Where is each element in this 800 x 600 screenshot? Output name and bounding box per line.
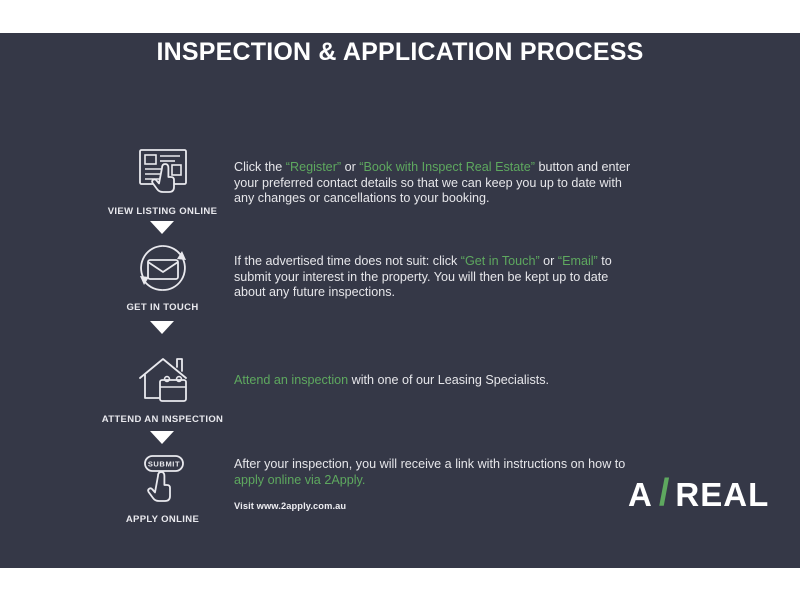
step-3-text-0: Attend an inspection xyxy=(234,373,348,387)
step-4-caption: APPLY ONLINE xyxy=(90,514,235,525)
step-1-text-0: Click the xyxy=(234,160,286,174)
step-4-body: After your inspection, you will receive … xyxy=(234,457,634,515)
step-4-footnote: Visit www.2apply.com.au xyxy=(234,499,634,515)
step-4-text-1: apply online via 2Apply. xyxy=(234,473,365,487)
logo-letter-a: A xyxy=(628,478,653,511)
step-1-text-2: or xyxy=(341,160,359,174)
step-1-text-1: “Register” xyxy=(286,160,341,174)
step-2-text-2: or xyxy=(540,254,558,268)
step-1-icon-column: VIEW LISTING ONLINE xyxy=(90,144,235,217)
svg-text:SUBMIT: SUBMIT xyxy=(147,460,179,469)
brand-logo: A / REAL xyxy=(628,474,769,514)
step-2-body: If the advertised time does not suit: cl… xyxy=(234,254,634,301)
step-4-text-0: After your inspection, you will receive … xyxy=(234,457,625,471)
step-1-text-3: “Book with Inspect Real Estate” xyxy=(359,160,535,174)
step-3-icon-column: ATTEND AN INSPECTION xyxy=(90,352,235,425)
arrow-step-2-to-3 xyxy=(150,321,174,334)
view-listing-icon xyxy=(90,144,235,200)
arrow-step-3-to-4 xyxy=(150,431,174,444)
page-title: INSPECTION & APPLICATION PROCESS xyxy=(0,38,800,67)
logo-slash-icon: / xyxy=(659,474,670,512)
step-3-text-1: with one of our Leasing Specialists. xyxy=(348,373,549,387)
step-1-body: Click the “Register” or “Book with Inspe… xyxy=(234,160,634,207)
step-3-body: Attend an inspection with one of our Lea… xyxy=(234,373,634,389)
apply-online-icon: SUBMIT xyxy=(90,452,235,508)
step-2-caption: GET IN TOUCH xyxy=(90,302,235,313)
step-4-icon-column: SUBMIT APPLY ONLINE xyxy=(90,452,235,525)
attend-inspection-icon xyxy=(90,352,235,408)
step-2-icon-column: GET IN TOUCH xyxy=(90,240,235,313)
get-in-touch-icon xyxy=(90,240,235,296)
step-3-caption: ATTEND AN INSPECTION xyxy=(90,414,235,425)
logo-word-real: REAL xyxy=(675,478,769,511)
step-2-text-0: If the advertised time does not suit: cl… xyxy=(234,254,461,268)
arrow-step-1-to-2 xyxy=(150,221,174,234)
step-2-text-3: “Email” xyxy=(558,254,598,268)
step-1-caption: VIEW LISTING ONLINE xyxy=(90,206,235,217)
step-2-text-1: “Get in Touch” xyxy=(461,254,540,268)
slide-root: INSPECTION & APPLICATION PROCESS VIEW LI… xyxy=(0,0,800,600)
